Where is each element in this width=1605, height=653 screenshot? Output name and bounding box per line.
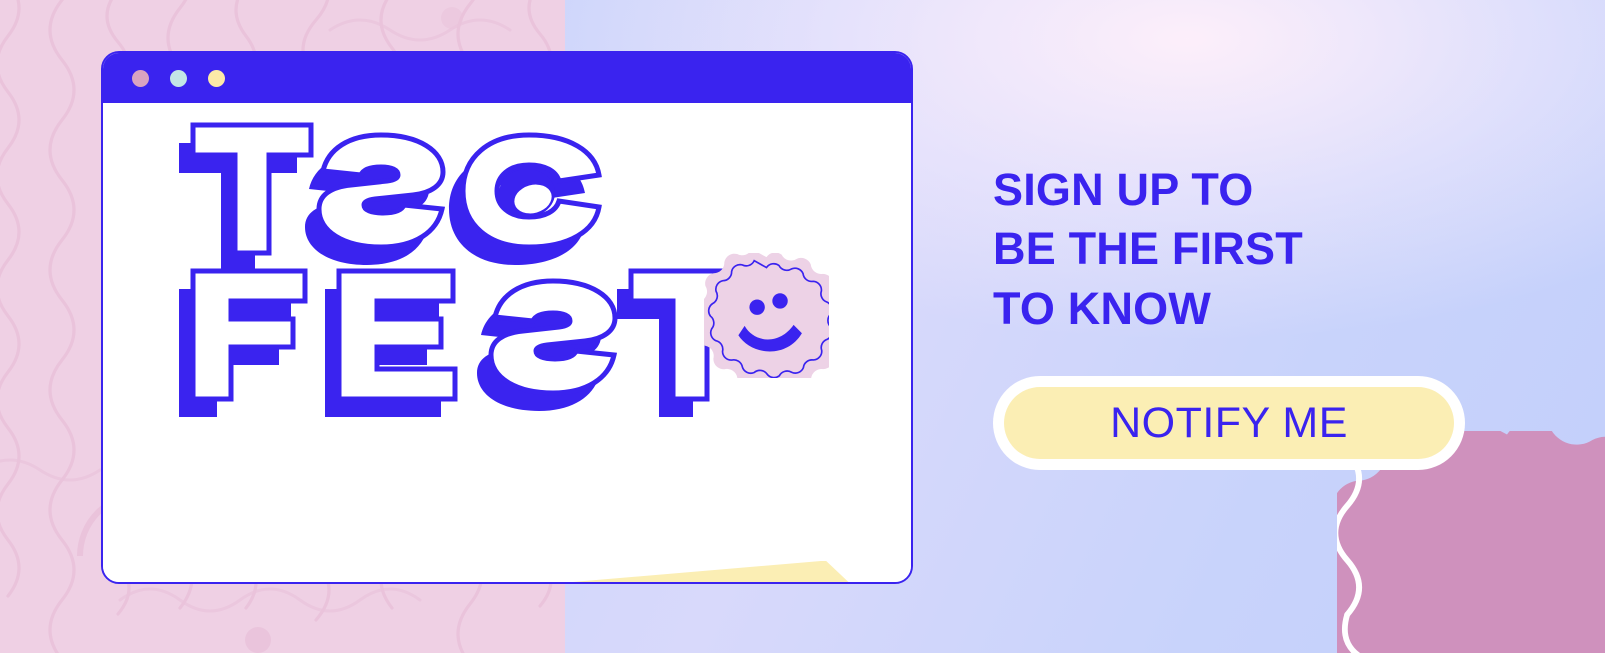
browser-window-mockup: IS COMING [101,51,913,584]
close-dot-icon[interactable] [132,70,149,87]
window-title-bar [103,53,911,103]
minimize-dot-icon[interactable] [170,70,187,87]
smiley-left-eye-icon [749,299,764,314]
smiley-face-sticker-icon [704,253,829,378]
notify-me-button-frame: NOTIFY ME [993,376,1465,470]
smiley-right-eye-icon [772,293,787,308]
window-content-area: IS COMING [103,103,911,584]
maximize-dot-icon[interactable] [208,70,225,87]
wordmark-line-tsc [179,125,599,271]
promo-panel: SIGN UP TO BE THE FIRST TO KNOW NOTIFY M… [993,160,1533,470]
promo-headline: SIGN UP TO BE THE FIRST TO KNOW [993,160,1533,338]
banner-canvas: IS COMING SIGN UP TO BE THE FIRST TO KNO… [0,0,1605,653]
notify-me-button[interactable]: NOTIFY ME [1004,387,1454,459]
is-coming-ribbon: IS COMING [310,561,887,584]
wordmark-line-fest [179,271,749,417]
